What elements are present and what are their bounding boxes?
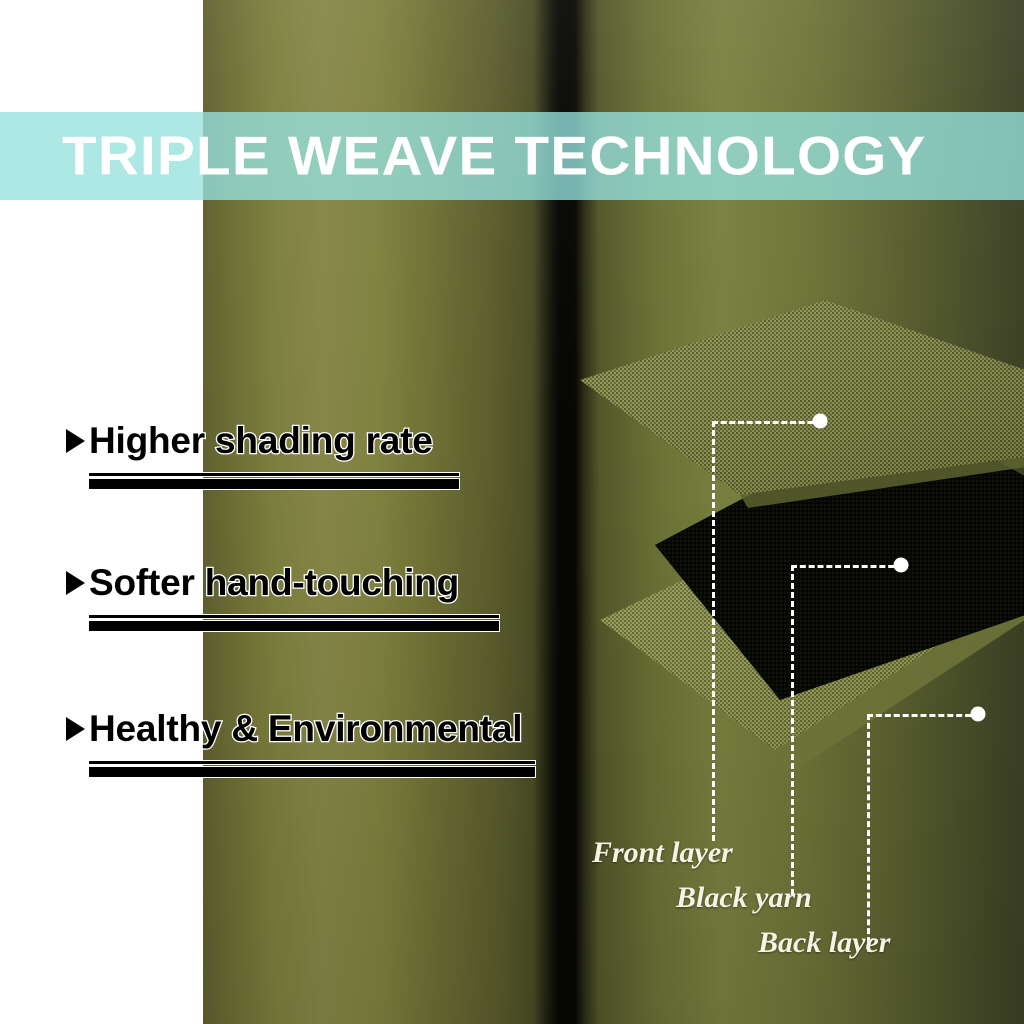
feature-underline-thin [88,472,460,477]
callout-label-back-layer: Back layer [758,926,890,960]
title-banner: TRIPLE WEAVE TECHNOLOGY [0,112,1024,200]
leader-line-yarn-vertical [791,565,794,895]
feature-underline-thick [88,478,460,490]
leader-dot-back-layer [971,707,986,722]
feature-item-higher-shading-rate: Higher shading rate [66,422,460,490]
product-infographic: TRIPLE WEAVE TECHNOLOGY Higher shading r… [0,0,1024,1024]
leader-line-front-vertical [712,421,715,841]
feature-item-healthy-environmental: Healthy & Environmental [66,710,536,778]
callout-label-front-layer: Front layer [592,836,733,870]
feature-item-softer-hand-touching: Softer hand-touching [66,564,500,632]
feature-underline [88,760,536,778]
feature-underline-thick [88,620,500,632]
feature-underline-thick [88,766,536,778]
triangle-right-icon [66,717,85,741]
leader-line-yarn-horizontal [791,565,903,568]
feature-underline [88,614,500,632]
feature-label: Healthy & Environmental [89,710,522,747]
feature-label: Higher shading rate [89,422,433,459]
leader-line-back-horizontal [867,714,980,717]
feature-underline-thin [88,614,500,619]
feature-underline [88,472,460,490]
leader-line-back-vertical [867,714,870,952]
feature-label: Softer hand-touching [89,564,459,601]
triangle-right-icon [66,571,85,595]
leader-dot-black-yarn [894,558,909,573]
feature-underline-thin [88,760,536,765]
page-title: TRIPLE WEAVE TECHNOLOGY [62,129,927,184]
leader-dot-front-layer [813,414,828,429]
callout-label-black-yarn: Black yarn [676,881,812,915]
leader-line-front-horizontal [712,421,822,424]
triangle-right-icon [66,429,85,453]
